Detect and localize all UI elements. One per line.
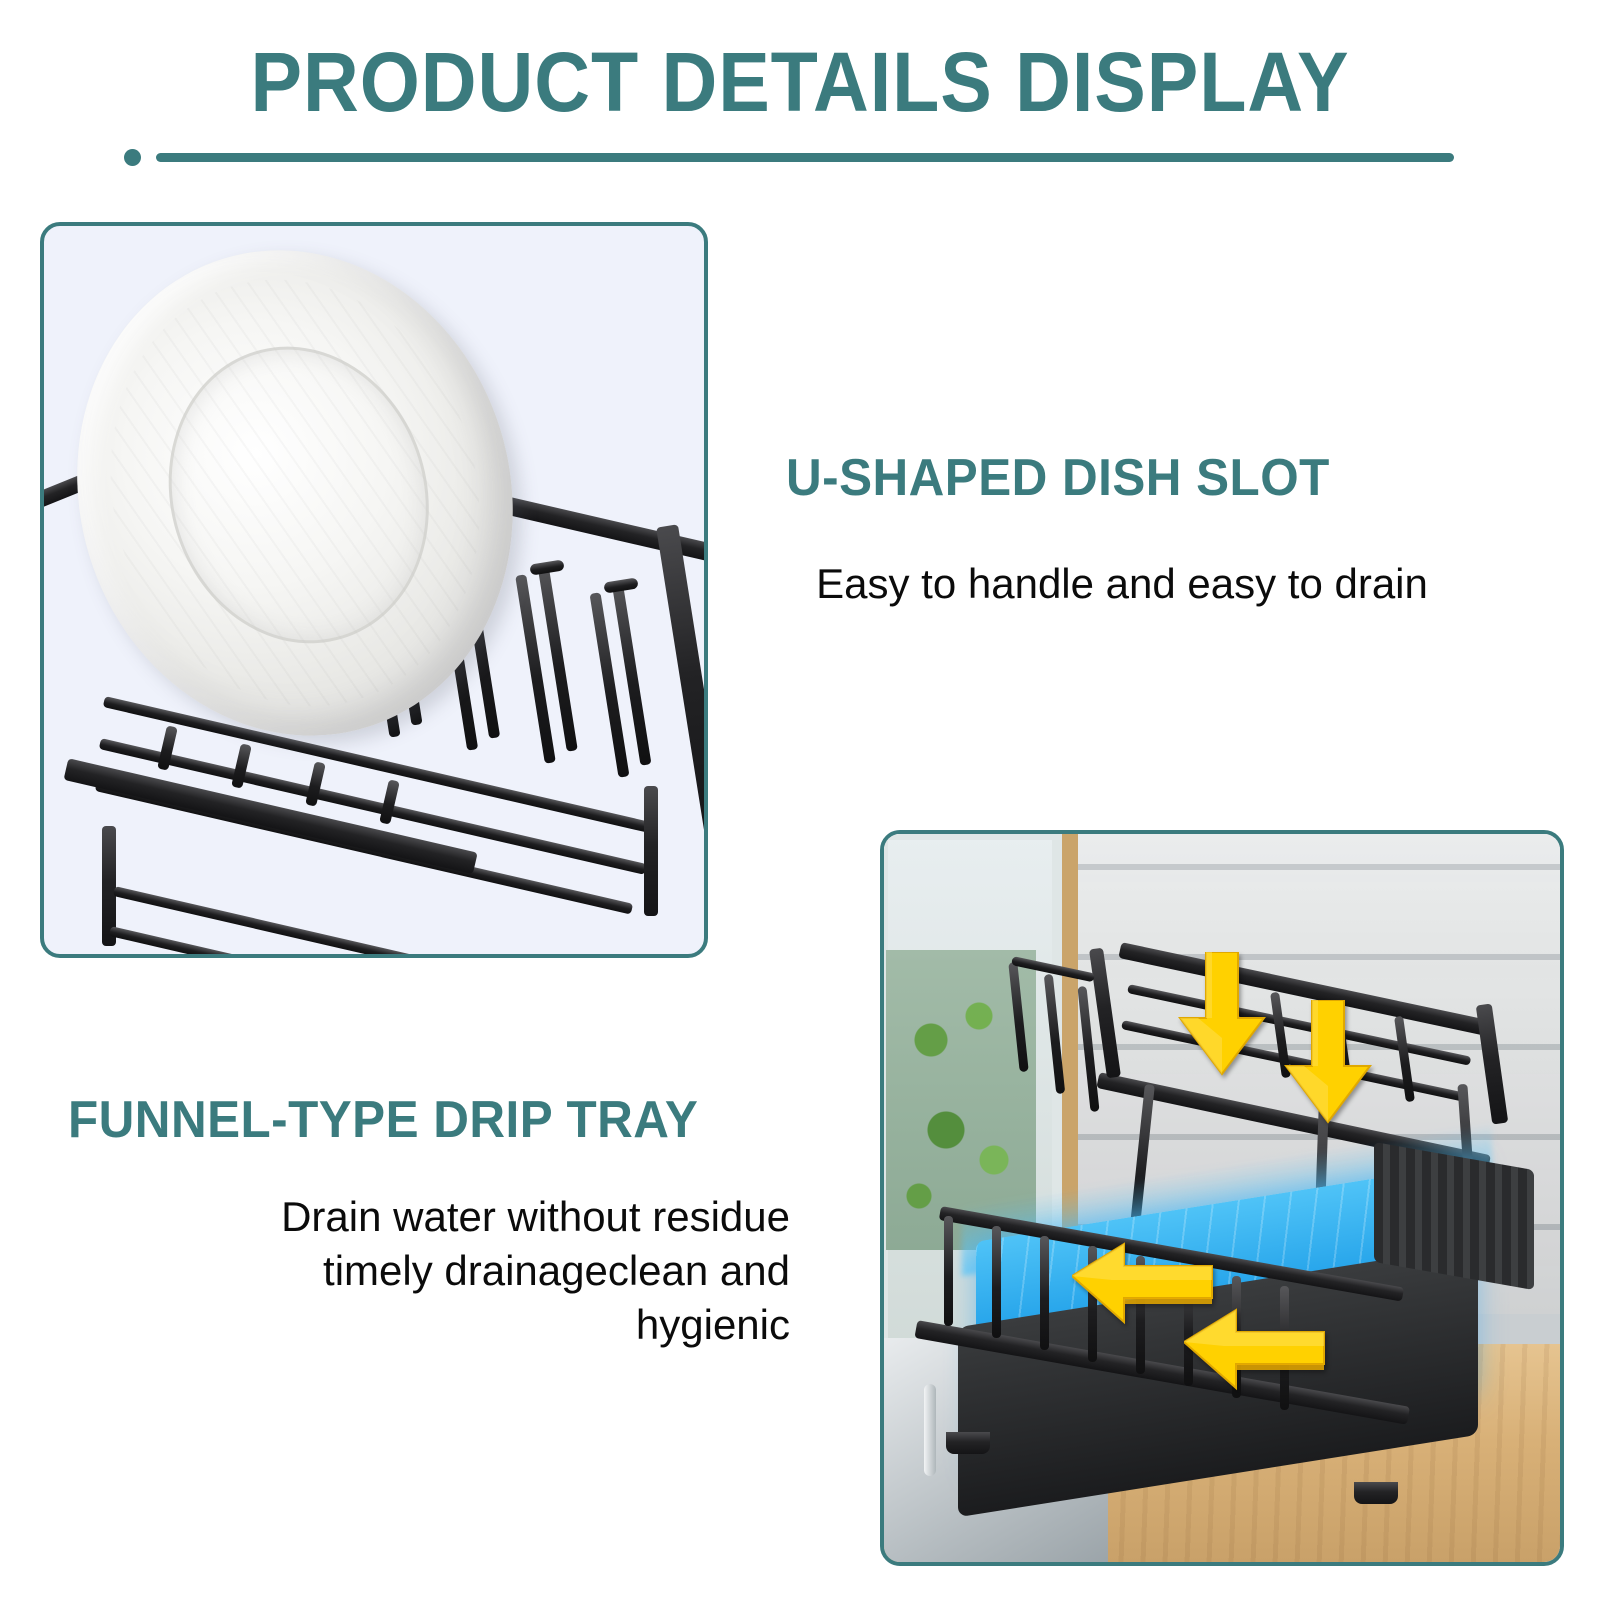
faucet-icon xyxy=(924,1384,936,1476)
feature-body-line-1: Drain water without residue xyxy=(60,1190,790,1244)
arrow-down-2 xyxy=(1282,1000,1374,1128)
rack-right-rail xyxy=(656,524,708,853)
lower-basket-post-2 xyxy=(992,1226,1001,1338)
feature-body-dish-slot: Easy to handle and easy to drain xyxy=(786,557,1458,611)
divider-line xyxy=(156,153,1454,162)
kitchen-dish-rack-drainage-photo xyxy=(880,830,1564,1566)
divider-dot-icon xyxy=(124,149,141,166)
feature-body-drip-tray: Drain water without residue timely drain… xyxy=(60,1190,790,1351)
lower-basket-post-1 xyxy=(944,1216,953,1326)
rack-leg-right xyxy=(644,786,658,916)
feature-heading-dish-slot: U-SHAPED DISH SLOT xyxy=(786,448,1330,508)
page-title: PRODUCT DETAILS DISPLAY xyxy=(64,34,1536,131)
kitchen-scene xyxy=(884,834,1560,1562)
header-divider xyxy=(124,148,1454,166)
feature-body-line-3: hygienic xyxy=(60,1298,790,1352)
lower-basket-post-3 xyxy=(1040,1236,1049,1350)
photo-stage-dish-slot xyxy=(44,226,704,954)
wire-rack-illustration xyxy=(44,226,704,954)
dish-rack-with-plate-photo xyxy=(40,222,708,958)
arrow-left-2 xyxy=(1184,1308,1326,1392)
tray-foot-left xyxy=(946,1432,990,1454)
feature-body-line-2: timely drainageclean and xyxy=(60,1244,790,1298)
tray-foot-right xyxy=(1354,1482,1398,1504)
feature-heading-drip-tray: FUNNEL-TYPE DRIP TRAY xyxy=(68,1090,698,1150)
arrow-down-1 xyxy=(1176,952,1268,1080)
